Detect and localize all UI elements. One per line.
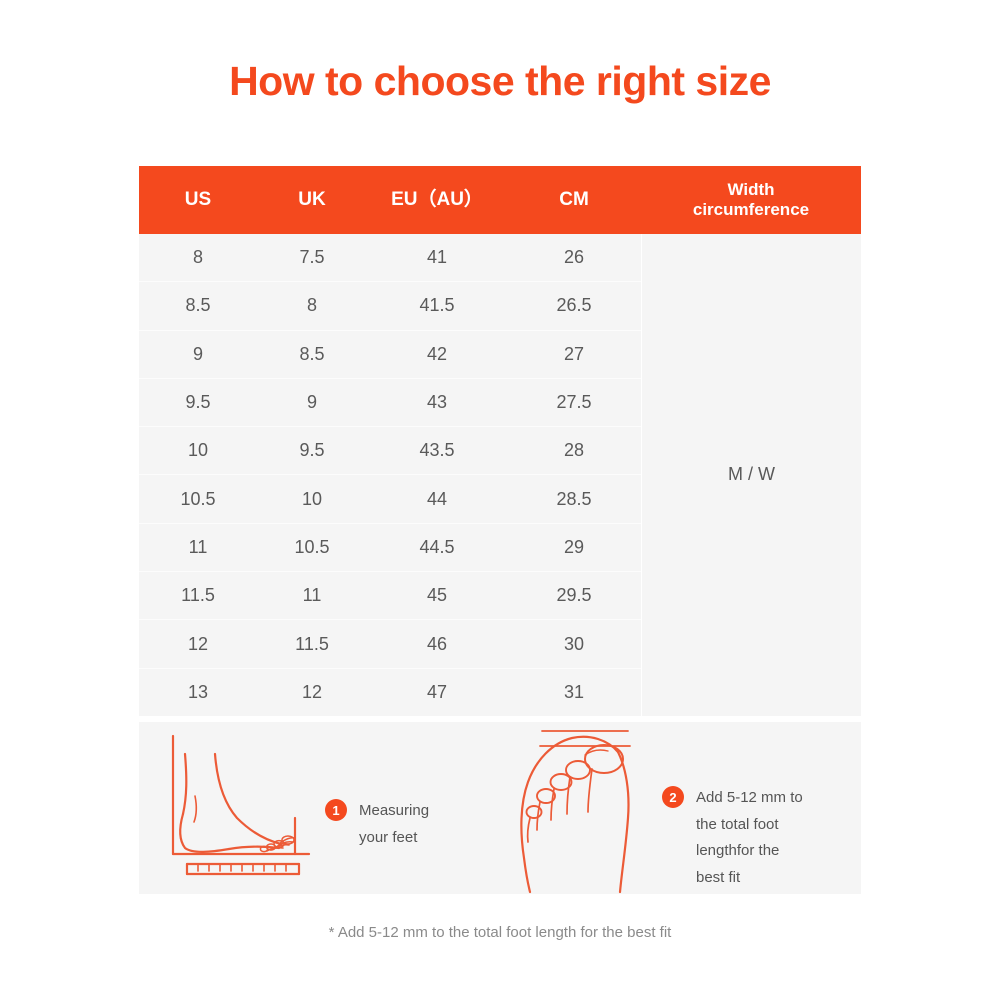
cell-uk: 9.5 [257,440,367,461]
cell-us: 8.5 [139,295,257,316]
cell-uk: 8 [257,295,367,316]
table-header-row: US UK EU（AU） CM Width circumference [139,166,861,234]
cell-us: 11.5 [139,585,257,606]
cell-eu: 44 [367,489,507,510]
cell-eu: 43.5 [367,440,507,461]
column-header-us: US [139,166,257,234]
cell-cm: 26 [507,247,641,268]
table-row: 11 10.5 44.5 29 [139,524,641,572]
column-header-cm: CM [507,166,641,234]
foot-side-view-with-ruler-icon [167,730,327,882]
cell-eu: 46 [367,634,507,655]
cell-cm: 27.5 [507,392,641,413]
cell-eu: 45 [367,585,507,606]
cell-eu: 43 [367,392,507,413]
step-2: 2 Add 5-12 mm to the total foot lengthfo… [662,785,803,892]
step-2-text: Add 5-12 mm to the total foot lengthfor … [696,785,803,892]
column-header-uk: UK [257,166,367,234]
cell-uk: 8.5 [257,344,367,365]
footnote: * Add 5-12 mm to the total foot length f… [0,924,1000,941]
step-2-panel: 2 Add 5-12 mm to the total foot lengthfo… [500,722,861,894]
table-row: 10.5 10 44 28.5 [139,475,641,523]
column-header-eu: EU（AU） [367,166,507,234]
size-guide-page: How to choose the right size US UK EU（AU… [0,0,1000,1000]
cell-us: 8 [139,247,257,268]
step-1-panel: 1 Measuring your feet [139,722,500,894]
table-row: 9 8.5 42 27 [139,331,641,379]
size-rows-container: 8 7.5 41 26 8.5 8 41.5 26.5 9 8.5 42 27 [139,234,641,716]
cell-cm: 29 [507,537,641,558]
table-row: 8 7.5 41 26 [139,234,641,282]
table-row: 8.5 8 41.5 26.5 [139,282,641,330]
cell-eu: 47 [367,682,507,703]
cell-uk: 12 [257,682,367,703]
cell-us: 10 [139,440,257,461]
step-1: 1 Measuring your feet [325,798,429,851]
cell-cm: 26.5 [507,295,641,316]
column-header-width-circumference: Width circumference [641,166,861,234]
cell-cm: 27 [507,344,641,365]
page-title: How to choose the right size [0,58,1000,105]
table-row: 9.5 9 43 27.5 [139,379,641,427]
width-circumference-cell: M / W [642,234,861,716]
width-circumference-value: M / W [728,464,775,485]
cell-eu: 42 [367,344,507,365]
step-1-number-badge: 1 [325,799,347,821]
step-1-text: Measuring your feet [359,798,429,851]
cell-uk: 9 [257,392,367,413]
cell-us: 13 [139,682,257,703]
cell-cm: 29.5 [507,585,641,606]
cell-uk: 11 [257,585,367,606]
cell-cm: 28 [507,440,641,461]
cell-cm: 31 [507,682,641,703]
cell-eu: 41 [367,247,507,268]
cell-uk: 10 [257,489,367,510]
table-row: 13 12 47 31 [139,669,641,716]
size-chart-table: US UK EU（AU） CM Width circumference 8 7.… [139,166,861,716]
table-row: 11.5 11 45 29.5 [139,572,641,620]
cell-uk: 11.5 [257,634,367,655]
step-2-number-badge: 2 [662,786,684,808]
cell-us: 10.5 [139,489,257,510]
cell-us: 9 [139,344,257,365]
table-row: 10 9.5 43.5 28 [139,427,641,475]
table-row: 12 11.5 46 30 [139,620,641,668]
cell-cm: 28.5 [507,489,641,510]
cell-uk: 10.5 [257,537,367,558]
cell-cm: 30 [507,634,641,655]
cell-us: 11 [139,537,257,558]
measurement-instructions-band: 1 Measuring your feet [139,722,861,894]
cell-uk: 7.5 [257,247,367,268]
cell-us: 12 [139,634,257,655]
cell-us: 9.5 [139,392,257,413]
cell-eu: 44.5 [367,537,507,558]
foot-top-view-with-toes-icon [506,722,656,894]
cell-eu: 41.5 [367,295,507,316]
table-body: 8 7.5 41 26 8.5 8 41.5 26.5 9 8.5 42 27 [139,234,861,716]
